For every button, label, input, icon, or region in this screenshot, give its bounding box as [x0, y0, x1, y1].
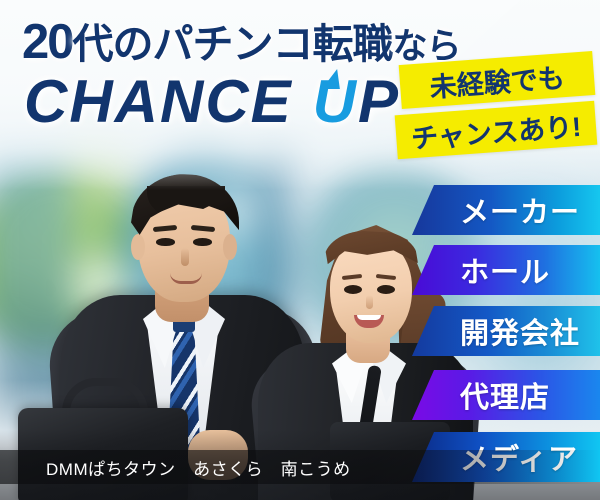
category-label-development-company: 開発会社 [412, 310, 580, 352]
credit-bar: DMMぱちタウン あさくら 南こうめ [0, 450, 600, 484]
category-label-hall: ホール [412, 249, 550, 291]
ad-banner[interactable]: 20代のパチンコ転職なら CHANCEUP 未経験でも チャンスあり! メーカー… [0, 0, 600, 500]
logo-letter-p: P [358, 68, 400, 135]
headline-number: 20 [22, 15, 73, 69]
category-label-maker: メーカー [412, 189, 580, 231]
category-button-agency[interactable]: 代理店 [412, 370, 600, 420]
headline-main: 代のパチンコ転職 [73, 21, 393, 67]
category-button-hall[interactable]: ホール [412, 245, 600, 295]
logo-word-chance: CHANCE [24, 68, 293, 135]
headline-suffix: なら [393, 27, 461, 66]
logo-chance-up: CHANCEUP [24, 72, 400, 132]
category-label-agency: 代理店 [412, 374, 550, 416]
badge-no-experience-label: 未経験でも [428, 56, 565, 105]
headline: 20代のパチンコ転職なら [22, 18, 461, 67]
credit-text: DMMぱちタウン あさくら 南こうめ [0, 455, 351, 480]
category-button-maker[interactable]: メーカー [412, 185, 600, 235]
category-button-development-company[interactable]: 開発会社 [412, 306, 600, 356]
logo-letter-u: U [313, 72, 358, 132]
